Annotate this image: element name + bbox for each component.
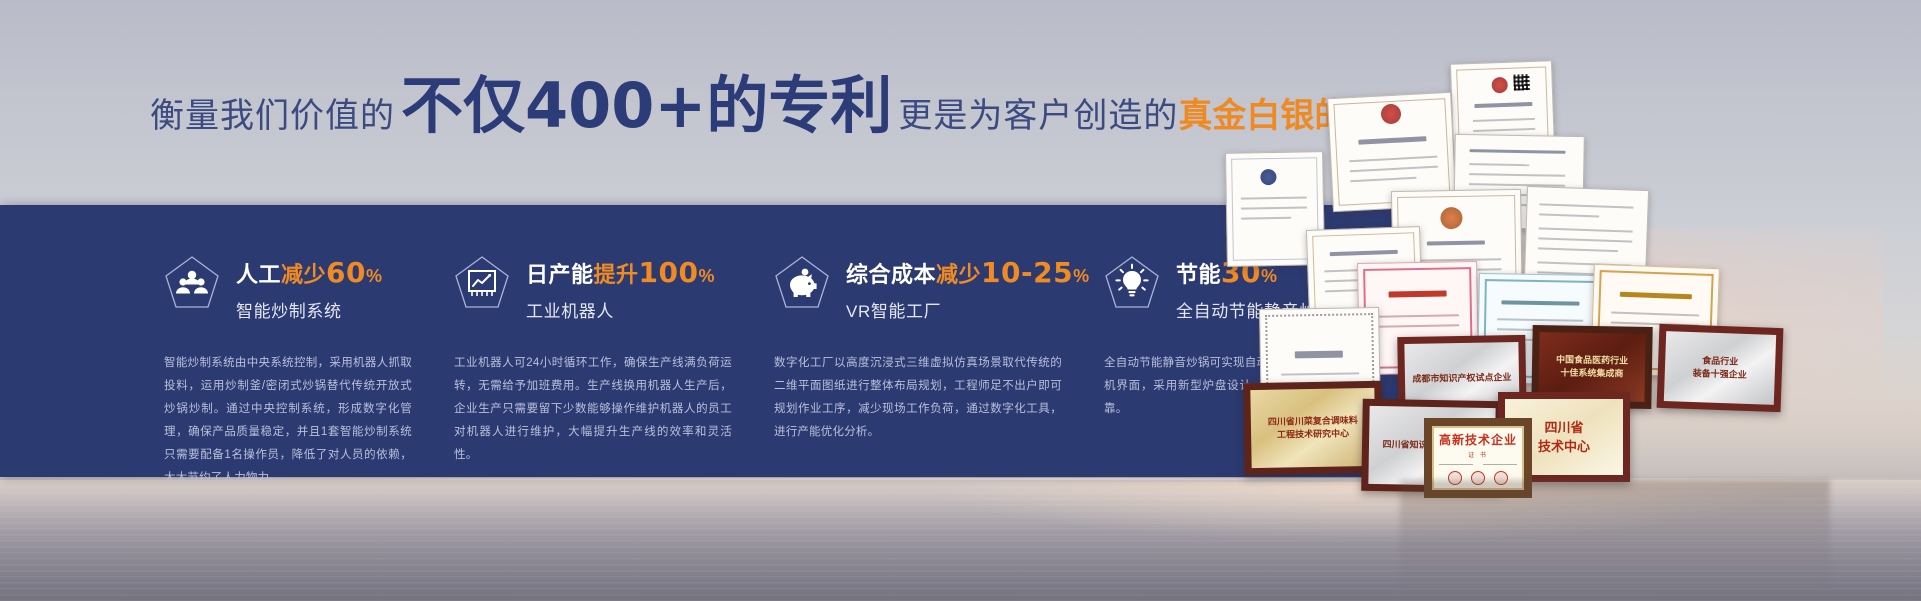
feature-subtitle: 智能炒制系统 [236,297,383,322]
metric-label: 人工 [236,262,281,287]
feature-metric: 日产能提升100% [526,257,715,289]
feature-metric: 人工减少60% [236,257,383,289]
feature-metric: 综合成本减少10-25% [846,257,1090,289]
metric-value: 10-25 [981,256,1073,289]
metric-unit: % [366,266,383,286]
feature-card-text: 综合成本减少10-25% VR智能工厂 [846,253,1090,322]
metric-label: 节能 [1176,262,1221,287]
headline-lead: 衡量我们价值的 [150,88,395,137]
certificate-title: 高新技术企业 [1439,431,1517,448]
plaque-line: 食品行业 [1702,354,1738,369]
team-people-icon [164,255,220,315]
metric-label: 综合成本 [846,262,936,287]
metric-label: 日产能 [526,262,594,287]
plaque-face: 四川省川菜复合调味料 工程技术研究中心 [1250,388,1375,468]
plaque-reflection [1400,480,1830,590]
metric-action: 减少 [936,262,981,287]
plaque-line: 中国食品医药行业 [1556,353,1628,368]
feature-subtitle: VR智能工厂 [846,297,1090,322]
piggy-bank-icon [774,255,830,315]
feature-card-header: 综合成本减少10-25% VR智能工厂 [774,253,1062,322]
chart-board-icon [454,255,510,315]
plaque-line: 十佳系统集成商 [1560,366,1623,381]
plaque-line: 成都市知识产权试点企业 [1412,371,1511,386]
metric-action: 减少 [281,262,326,287]
metric-unit: % [698,266,715,286]
feature-card-header: 日产能提升100% 工业机器人 [454,253,732,322]
feature-card-text: 日产能提升100% 工业机器人 [526,253,715,322]
plaque-face: 食品行业 装备十强企业 [1664,331,1776,405]
metric-value: 60 [326,256,366,289]
banner-stage: 衡量我们价值的 不仅400+的专利 更是为客户创造的 真金白银的效益 [0,0,1921,601]
headline-emphasis: 不仅400+的专利 [395,78,898,134]
feature-body: 智能炒制系统由中央系统控制，采用机器人抓取投料，运用炒制釜/密闭式炒锅替代传统开… [164,352,412,490]
feature-card-text: 人工减少60% 智能炒制系统 [236,253,383,322]
headline-middle: 更是为客户创造的 [898,88,1178,137]
plaque-food-industry-top: 食品行业 装备十强企业 [1657,324,1784,412]
feature-card-header: 人工减少60% 智能炒制系统 [164,253,412,322]
plaque-line: 工程技术研究中心 [1277,427,1349,442]
plaque-line: 四川省 [1544,418,1583,438]
feature-card-list: 人工减少60% 智能炒制系统 智能炒制系统由中央系统控制，采用机器人抓取投料，运… [0,205,1409,477]
feature-body: 工业机器人可24小时循环工作，确保生产线满负荷运转，无需给予加班费用。生产线换用… [454,352,732,467]
certificate-rule-lines [1439,464,1517,466]
plaque-line: 技术中心 [1538,437,1590,457]
metric-value: 100 [639,256,699,289]
feature-card: 日产能提升100% 工业机器人 工业机器人可24小时循环工作，确保生产线满负荷运… [428,205,748,477]
feature-card: 人工减少60% 智能炒制系统 智能炒制系统由中央系统控制，采用机器人抓取投料，运… [138,205,428,477]
feature-card: 综合成本减少10-25% VR智能工厂 数字化工厂以高度沉浸式三维虚拟仿真场景取… [748,205,1078,477]
metric-action: 提升 [594,262,639,287]
feature-body: 数字化工厂以高度沉浸式三维虚拟仿真场景取代传统的二维平面图纸进行整体布局规划，工… [774,352,1062,444]
feature-subtitle: 工业机器人 [526,297,715,322]
plaque-line: 装备十强企业 [1693,367,1747,382]
certificate-collage: 成都市知识产权试点企业 中国食品医药行业 十佳系统集成商 食品行业 装备十强企业… [1240,40,1921,480]
certificate-subtitle: 证 书 [1468,450,1488,459]
lightbulb-icon [1104,255,1160,315]
feature-panel: 人工减少60% 智能炒制系统 智能炒制系统由中央系统控制，采用机器人抓取投料，运… [0,205,1409,477]
headline: 衡量我们价值的 不仅400+的专利 更是为客户创造的 真金白银的效益 [150,78,1416,137]
